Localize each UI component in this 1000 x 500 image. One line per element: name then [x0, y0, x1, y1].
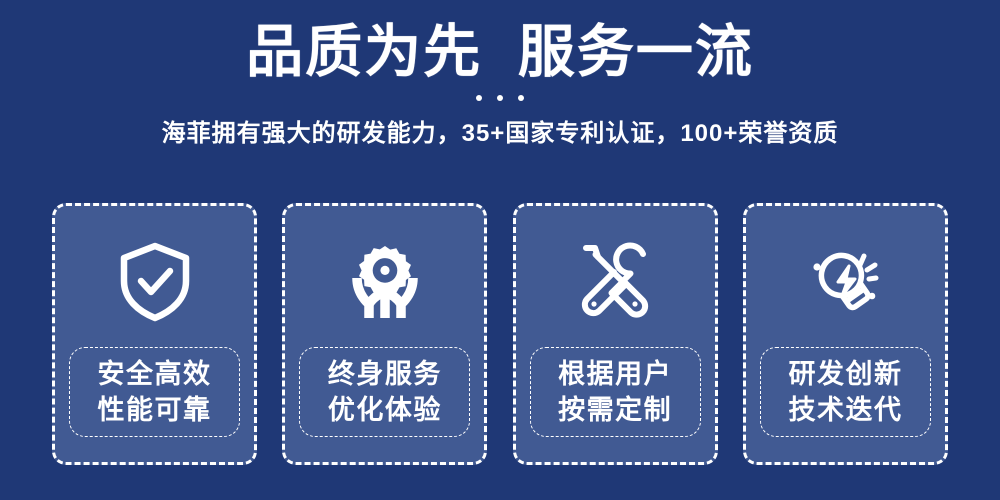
feature-card-3-line1: 根据用户 [558, 356, 672, 392]
lightbulb-bolt-icon [799, 236, 891, 328]
feature-card-4-label: 研发创新 技术迭代 [760, 347, 931, 437]
main-title: 品质为先 服务一流 [0, 22, 1000, 84]
feature-card-3[interactable]: 根据用户 按需定制 [513, 203, 718, 465]
feature-card-4[interactable]: 研发创新 技术迭代 [743, 203, 948, 465]
banner-header: 品质为先 服务一流 海菲拥有强大的研发能力，35+国家专利认证，100+荣誉资质 [0, 0, 1000, 148]
feature-card-2-line1: 终身服务 [328, 356, 442, 392]
feature-card-4-line1: 研发创新 [788, 356, 902, 392]
feature-card-3-label: 根据用户 按需定制 [530, 347, 701, 437]
gear-in-hands-icon [339, 236, 431, 328]
feature-card-3-line2: 按需定制 [558, 392, 672, 428]
feature-card-2-label: 终身服务 优化体验 [299, 347, 470, 437]
feature-card-1-label: 安全高效 性能可靠 [69, 347, 240, 437]
divider-dot-3 [518, 95, 524, 101]
promo-banner: 品质为先 服务一流 海菲拥有强大的研发能力，35+国家专利认证，100+荣誉资质… [0, 0, 1000, 500]
divider-dot-2 [497, 95, 503, 101]
feature-card-1-line1: 安全高效 [98, 356, 212, 392]
sub-title: 海菲拥有强大的研发能力，35+国家专利认证，100+荣誉资质 [0, 113, 1000, 148]
feature-card-2[interactable]: 终身服务 优化体验 [282, 203, 487, 465]
feature-card-4-line2: 技术迭代 [788, 392, 902, 428]
shield-check-icon [109, 236, 201, 328]
feature-card-1-line2: 性能可靠 [98, 392, 212, 428]
screwdriver-wrench-icon [569, 236, 661, 328]
divider-dots [0, 93, 1000, 103]
feature-card-2-line2: 优化体验 [328, 392, 442, 428]
divider-dot-1 [476, 95, 482, 101]
feature-card-1[interactable]: 安全高效 性能可靠 [52, 203, 257, 465]
feature-card-list: 安全高效 性能可靠 终身服务 [52, 203, 948, 465]
